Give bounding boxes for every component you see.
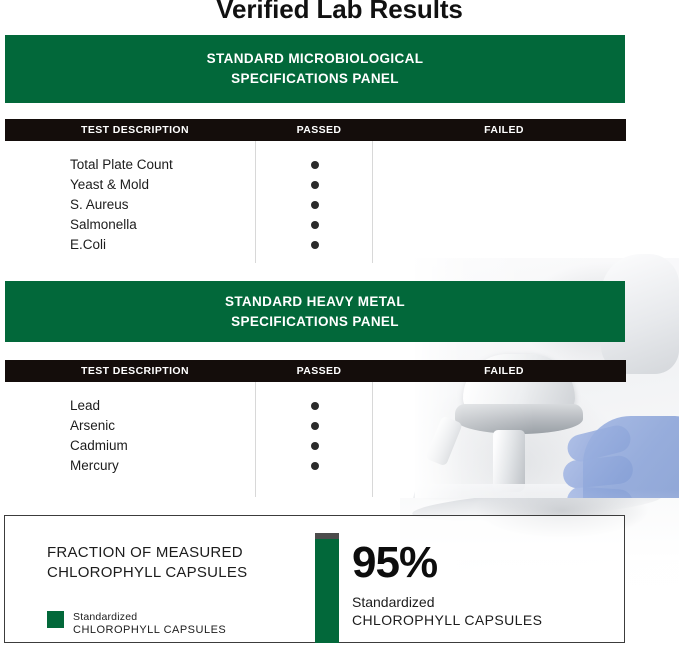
legend-label-line1: Standardized: [73, 611, 226, 624]
column-label-test-description: TEST DESCRIPTION: [35, 360, 235, 382]
summary-title-line2: CHLOROPHYLL CAPSULES: [47, 563, 247, 583]
failed-cell: [465, 456, 545, 476]
passed-dot-icon: [311, 161, 319, 169]
summary-title: FRACTION OF MEASURED CHLOROPHYLL CAPSULE…: [47, 543, 247, 583]
column-label-failed: FAILED: [423, 119, 585, 141]
column-label-test-description: TEST DESCRIPTION: [35, 119, 235, 141]
column-label-passed: PASSED: [263, 119, 375, 141]
table-row: Arsenic: [5, 416, 626, 436]
column-header-microbiological: TEST DESCRIPTION PASSED FAILED: [5, 119, 626, 141]
column-label-passed: PASSED: [263, 360, 375, 382]
test-description-label: Cadmium: [70, 436, 128, 456]
failed-cell: [465, 235, 545, 255]
page-title: Verified Lab Results: [0, 0, 679, 24]
passed-dot-icon: [311, 241, 319, 249]
percentage-caption: Standardized CHLOROPHYLL CAPSULES: [352, 593, 542, 629]
percentage-caption-line1: Standardized: [352, 593, 542, 611]
panel-header-microbiological: STANDARD MICROBIOLOGICAL SPECIFICATIONS …: [5, 35, 625, 103]
test-description-label: Total Plate Count: [70, 155, 173, 175]
panel-header-line2: SPECIFICATIONS PANEL: [231, 312, 399, 332]
test-description-label: E.Coli: [70, 235, 106, 255]
table-row: Cadmium: [5, 436, 626, 456]
table-row: Total Plate Count: [5, 155, 626, 175]
failed-cell: [465, 416, 545, 436]
column-label-failed: FAILED: [423, 360, 585, 382]
failed-cell: [465, 155, 545, 175]
panel-header-line1: STANDARD MICROBIOLOGICAL: [207, 49, 424, 69]
summary-title-line1: FRACTION OF MEASURED: [47, 543, 247, 563]
percentage-gauge-bar: [315, 533, 339, 643]
test-description-label: Arsenic: [70, 416, 115, 436]
passed-dot-icon: [311, 221, 319, 229]
failed-cell: [465, 215, 545, 235]
passed-dot-icon: [311, 422, 319, 430]
table-row: S. Aureus: [5, 195, 626, 215]
test-description-label: Lead: [70, 396, 100, 416]
legend-label: Standardized CHLOROPHYLL CAPSULES: [73, 611, 226, 637]
legend-label-line2: CHLOROPHYLL CAPSULES: [73, 624, 226, 637]
table-body-microbiological: Total Plate Count Yeast & Mold S. Aureus…: [5, 141, 626, 263]
table-body-heavy-metal: Lead Arsenic Cadmium Mercury: [5, 382, 626, 497]
table-row: Lead: [5, 396, 626, 416]
table-row: Salmonella: [5, 215, 626, 235]
percentage-value: 95%: [352, 539, 437, 587]
failed-cell: [465, 175, 545, 195]
test-description-label: Salmonella: [70, 215, 137, 235]
passed-dot-icon: [311, 402, 319, 410]
passed-dot-icon: [311, 442, 319, 450]
table-row: Mercury: [5, 456, 626, 476]
percentage-caption-line2: CHLOROPHYLL CAPSULES: [352, 611, 542, 629]
legend-swatch-icon: [47, 611, 64, 628]
passed-dot-icon: [311, 462, 319, 470]
failed-cell: [465, 436, 545, 456]
panel-header-heavy-metal: STANDARD HEAVY METAL SPECIFICATIONS PANE…: [5, 281, 625, 342]
table-row: E.Coli: [5, 235, 626, 255]
test-description-label: Mercury: [70, 456, 119, 476]
failed-cell: [465, 195, 545, 215]
panel-header-line1: STANDARD HEAVY METAL: [225, 292, 405, 312]
column-header-heavy-metal: TEST DESCRIPTION PASSED FAILED: [5, 360, 626, 382]
passed-dot-icon: [311, 181, 319, 189]
passed-dot-icon: [311, 201, 319, 209]
failed-cell: [465, 396, 545, 416]
test-description-label: Yeast & Mold: [70, 175, 149, 195]
gauge-filled-segment: [315, 539, 339, 644]
table-row: Yeast & Mold: [5, 175, 626, 195]
panel-header-line2: SPECIFICATIONS PANEL: [231, 69, 399, 89]
test-description-label: S. Aureus: [70, 195, 129, 215]
